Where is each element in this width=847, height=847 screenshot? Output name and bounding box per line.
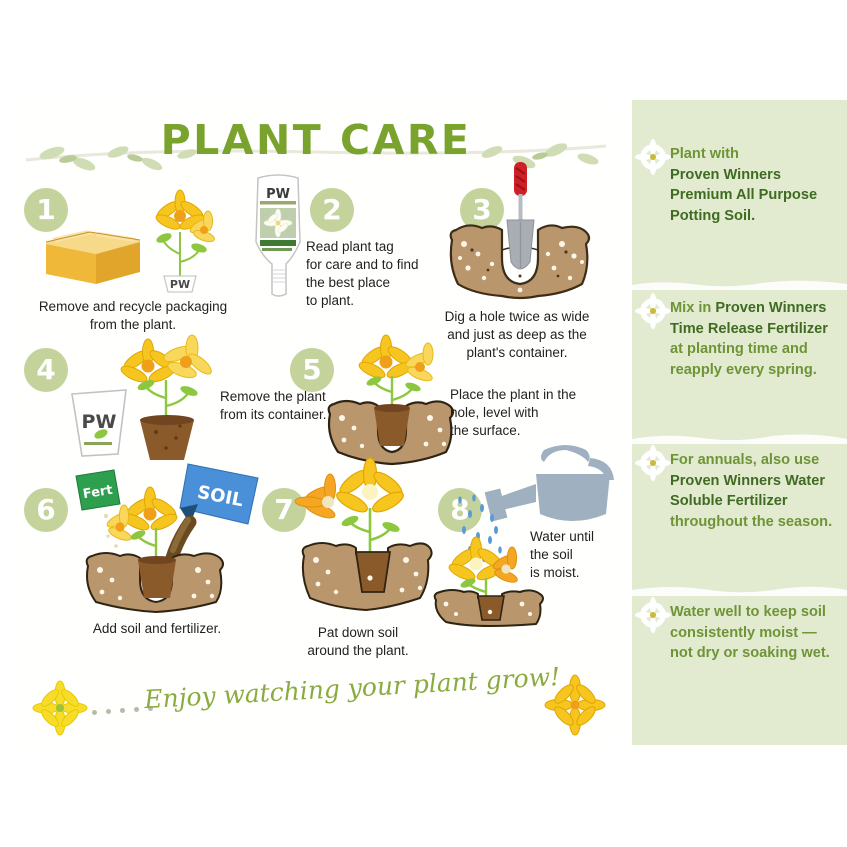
- sidebar-tip-1: Plant with Proven Winners Premium All Pu…: [632, 144, 847, 227]
- trowel-icon: [507, 162, 534, 269]
- soil-bag-icon: SOIL: [180, 464, 258, 524]
- sidebar-tip-3: For annuals, also use Proven Winners Wat…: [632, 450, 847, 533]
- tip-2-line-1: Mix in Proven Winners: [670, 298, 837, 319]
- step-caption-2: Read plant tag for care and to find the …: [306, 238, 446, 310]
- plant-rootball-icon: [110, 336, 222, 464]
- tip-2-line-1a: Mix in: [670, 300, 715, 316]
- main-panel: PLANT CARE 1: [14, 100, 618, 746]
- tip-4-line-1: Water well to keep soil: [670, 602, 837, 623]
- footer-tagline: Enjoy watching your plant grow!: [144, 663, 545, 714]
- step-caption-5: Place the plant in the hole, level with …: [450, 386, 600, 440]
- step-caption-7-line-2: around the plant.: [268, 642, 448, 660]
- tip-4-line-2: consistently moist —: [670, 623, 837, 644]
- yellow-flower-icon-left: [34, 682, 86, 734]
- fert-bag-icon: Fert: [76, 470, 120, 510]
- tip-3-line-2: Proven Winners Water: [670, 471, 837, 492]
- tip-3-line-3: Soluble Fertilizer: [670, 491, 837, 512]
- step-caption-7: Pat down soil around the plant.: [268, 624, 448, 660]
- tip-2-line-3: at planting time and: [670, 339, 837, 360]
- tip-2-line-1b: Proven Winners: [715, 300, 826, 316]
- tip-2-line-2: Time Release Fertilizer: [670, 319, 837, 340]
- tip-2-line-4: reapply every spring.: [670, 360, 837, 381]
- step-caption-1-line-1: Remove and recycle packaging: [20, 298, 246, 316]
- step-caption-8-line-2: the soil: [530, 546, 640, 564]
- white-daisy-icon-3: [636, 446, 670, 480]
- step-caption-6-line-1: Add soil and fertilizer.: [44, 620, 270, 638]
- footer: Enjoy watching your plant grow!: [14, 660, 618, 730]
- sidebar-tip-4-text: Water well to keep soil consistently moi…: [670, 602, 837, 664]
- step-caption-1: Remove and recycle packaging from the pl…: [20, 298, 246, 334]
- step-caption-2-line-3: the best place: [306, 274, 446, 292]
- step-number-2: 2: [310, 188, 354, 232]
- page-title: PLANT CARE: [14, 120, 618, 161]
- tip-1-line-2: Proven Winners: [670, 165, 837, 186]
- sidebar-tip-2-text: Mix in Proven Winners Time Release Ferti…: [670, 298, 837, 381]
- step-caption-8-line-3: is moist.: [530, 564, 640, 582]
- step-caption-3-line-1: Dig a hole twice as wide: [418, 308, 616, 326]
- step-6-illustration: Fert SOIL: [62, 460, 278, 612]
- tip-1-line-1: Plant with: [670, 144, 837, 165]
- tip-1-line-4: Potting Soil.: [670, 206, 837, 227]
- tip-4-line-3: not dry or soaking wet.: [670, 643, 837, 664]
- watering-can-icon: [485, 445, 614, 521]
- sidebar-tip-2: Mix in Proven Winners Time Release Ferti…: [632, 298, 847, 381]
- step-caption-2-line-2: for care and to find: [306, 256, 446, 274]
- step-caption-5-line-2: hole, level with: [450, 404, 600, 422]
- sidebar-tip-1-text: Plant with Proven Winners Premium All Pu…: [670, 144, 837, 227]
- tip-divider-1: [632, 278, 847, 290]
- white-daisy-icon-1: [636, 140, 670, 174]
- step-caption-2-line-1: Read plant tag: [306, 238, 446, 256]
- step-caption-8-line-1: Water until: [530, 528, 640, 546]
- cardboard-box-icon: [38, 208, 148, 288]
- tip-divider-2: [632, 432, 847, 444]
- svg-text:PW: PW: [266, 187, 290, 202]
- potted-flower-icon: PW: [142, 176, 220, 292]
- tip-divider-3: [632, 584, 847, 596]
- white-daisy-icon-4: [636, 598, 670, 632]
- step-caption-8: Water until the soil is moist.: [530, 528, 640, 582]
- step-caption-7-line-1: Pat down soil: [268, 624, 448, 642]
- infographic-page: PLANT CARE 1: [0, 0, 847, 847]
- white-daisy-icon-2: [636, 294, 670, 328]
- step-caption-1-line-2: from the plant.: [20, 316, 246, 334]
- tips-sidebar: Plant with Proven Winners Premium All Pu…: [632, 100, 847, 745]
- svg-text:PW: PW: [170, 278, 190, 291]
- tip-3-line-4: throughout the season.: [670, 512, 837, 533]
- step-caption-6: Add soil and fertilizer.: [44, 620, 270, 638]
- step-caption-5-line-3: the surface.: [450, 422, 600, 440]
- dug-hole-icon: [434, 158, 604, 308]
- step-caption-5-line-1: Place the plant in the: [450, 386, 600, 404]
- tip-1-line-3: Premium All Purpose: [670, 185, 837, 206]
- sidebar-tip-4: Water well to keep soil consistently moi…: [632, 602, 847, 664]
- patted-soil-icon: [290, 458, 434, 614]
- sidebar-tip-3-text: For annuals, also use Proven Winners Wat…: [670, 450, 837, 533]
- yellow-flower-icon-right: [546, 676, 604, 734]
- tip-3-line-1: For annuals, also use: [670, 450, 837, 471]
- plant-tag-icon: PW: [242, 172, 314, 298]
